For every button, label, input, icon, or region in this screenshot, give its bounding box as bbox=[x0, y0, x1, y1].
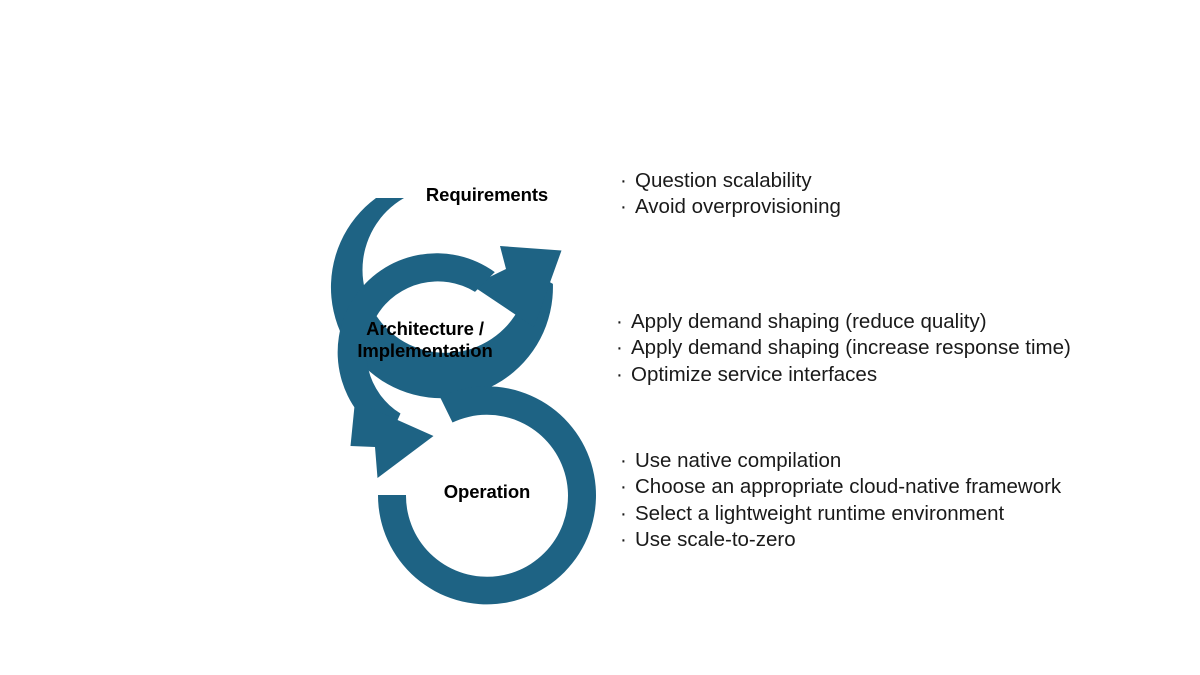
stage-label-operation: Operation bbox=[404, 481, 570, 503]
list-item-label: Avoid overprovisioning bbox=[635, 194, 841, 220]
list-item: · Select a lightweight runtime environme… bbox=[620, 501, 1061, 527]
bullet-list-operation: · Use native compilation · Choose an app… bbox=[620, 448, 1061, 553]
stage-label-architecture: Architecture / Implementation bbox=[330, 318, 520, 362]
bullet-marker-icon: · bbox=[620, 168, 635, 194]
bullet-list-requirements: · Question scalability · Avoid overprovi… bbox=[620, 168, 841, 221]
bullet-marker-icon: · bbox=[616, 335, 631, 361]
list-item-label: Question scalability bbox=[635, 168, 812, 194]
list-item: · Apply demand shaping (reduce quality) bbox=[616, 309, 1071, 335]
list-item: · Avoid overprovisioning bbox=[620, 194, 841, 220]
list-item: · Use scale-to-zero bbox=[620, 527, 1061, 553]
bullet-marker-icon: · bbox=[620, 501, 635, 527]
list-item: · Choose an appropriate cloud-native fra… bbox=[620, 474, 1061, 500]
bullet-marker-icon: · bbox=[620, 194, 635, 220]
list-item-label: Use scale-to-zero bbox=[635, 527, 796, 553]
list-item-label: Apply demand shaping (reduce quality) bbox=[631, 309, 987, 335]
list-item: · Question scalability bbox=[620, 168, 841, 194]
bullet-marker-icon: · bbox=[620, 448, 635, 474]
list-item-label: Choose an appropriate cloud-native frame… bbox=[635, 474, 1061, 500]
bullet-marker-icon: · bbox=[620, 527, 635, 553]
stage-label-requirements: Requirements bbox=[396, 184, 578, 206]
list-item: · Use native compilation bbox=[620, 448, 1061, 474]
list-item-label: Optimize service interfaces bbox=[631, 362, 877, 388]
list-item-label: Apply demand shaping (increase response … bbox=[631, 335, 1071, 361]
bullet-marker-icon: · bbox=[620, 474, 635, 500]
bullet-marker-icon: · bbox=[616, 309, 631, 335]
list-item-label: Select a lightweight runtime environment bbox=[635, 501, 1004, 527]
list-item: · Optimize service interfaces bbox=[616, 362, 1071, 388]
diagram-canvas: Requirements Architecture / Implementati… bbox=[0, 0, 1200, 675]
list-item-label: Use native compilation bbox=[635, 448, 841, 474]
list-item: · Apply demand shaping (increase respons… bbox=[616, 335, 1071, 361]
bullet-marker-icon: · bbox=[616, 362, 631, 388]
bullet-list-architecture: · Apply demand shaping (reduce quality) … bbox=[616, 309, 1071, 388]
